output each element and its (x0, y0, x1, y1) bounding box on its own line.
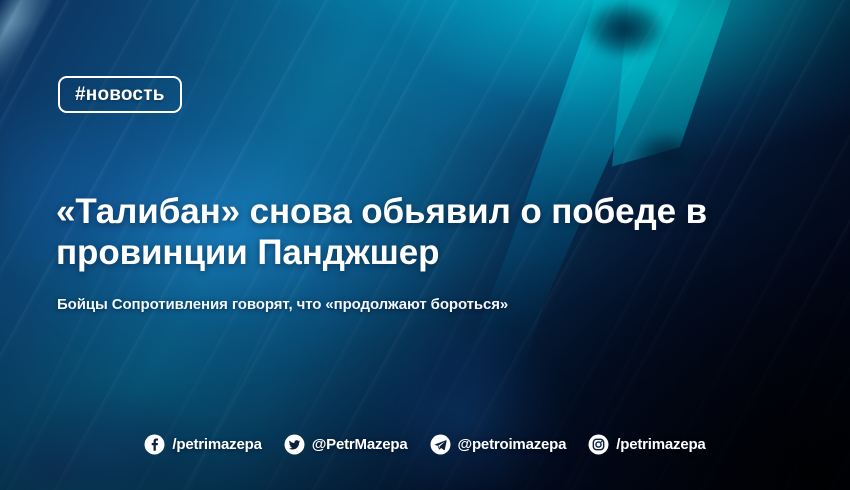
category-badge[interactable]: #новость (58, 76, 182, 113)
card-content: #новость «Талибан» снова обьявил о побед… (0, 0, 850, 490)
social-link-instagram[interactable]: /petrimazepa (588, 434, 705, 455)
facebook-icon (144, 434, 165, 455)
social-handle-twitter: @PetrMazepa (312, 436, 408, 453)
social-link-facebook[interactable]: /petrimazepa (144, 434, 261, 455)
instagram-icon (588, 434, 609, 455)
subheadline: Бойцы Сопротивления говорят, что «продол… (57, 296, 508, 314)
headline: «Талибан» снова обьявил о победе в прови… (56, 192, 816, 273)
telegram-icon (430, 434, 451, 455)
social-link-telegram[interactable]: @petroimazepa (430, 434, 567, 455)
social-links-bar: /petrimazepa @PetrMazepa (0, 434, 850, 455)
twitter-icon (284, 434, 305, 455)
news-card: #новость «Талибан» снова обьявил о побед… (0, 0, 850, 490)
social-handle-telegram: @petroimazepa (458, 436, 567, 453)
social-link-twitter[interactable]: @PetrMazepa (284, 434, 408, 455)
social-handle-facebook: /petrimazepa (172, 436, 261, 453)
social-handle-instagram: /petrimazepa (616, 436, 705, 453)
